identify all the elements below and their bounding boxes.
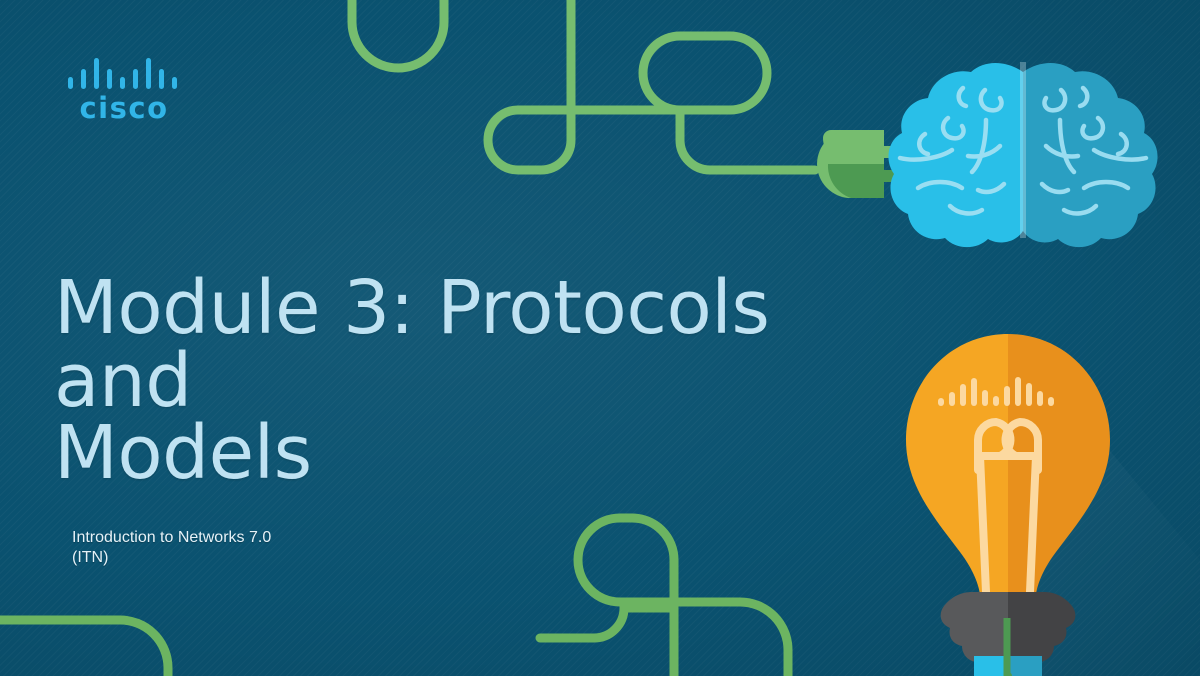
title-line-1: Module 3: Protocols and — [54, 272, 914, 417]
subtitle-line-1: Introduction to Networks 7.0 — [72, 528, 492, 548]
subtitle-line-2: (ITN) — [72, 548, 492, 568]
title-slide: cisco Module 3: Protocols and Models Int… — [0, 0, 1200, 676]
wire-path-top — [352, 0, 815, 170]
brain-illustration — [888, 62, 1157, 247]
lightbulb-illustration — [906, 334, 1200, 676]
cisco-logo: cisco — [64, 55, 184, 127]
cisco-wordmark: cisco — [64, 91, 184, 125]
page-title: Module 3: Protocols and Models — [54, 272, 914, 490]
title-line-2: Models — [54, 417, 914, 490]
cisco-logo-bars — [68, 55, 180, 89]
plug-connector — [817, 130, 906, 198]
bulb-base — [941, 592, 1076, 676]
bulb-bar-pattern — [938, 377, 1054, 406]
subtitle: Introduction to Networks 7.0 (ITN) — [72, 528, 492, 568]
